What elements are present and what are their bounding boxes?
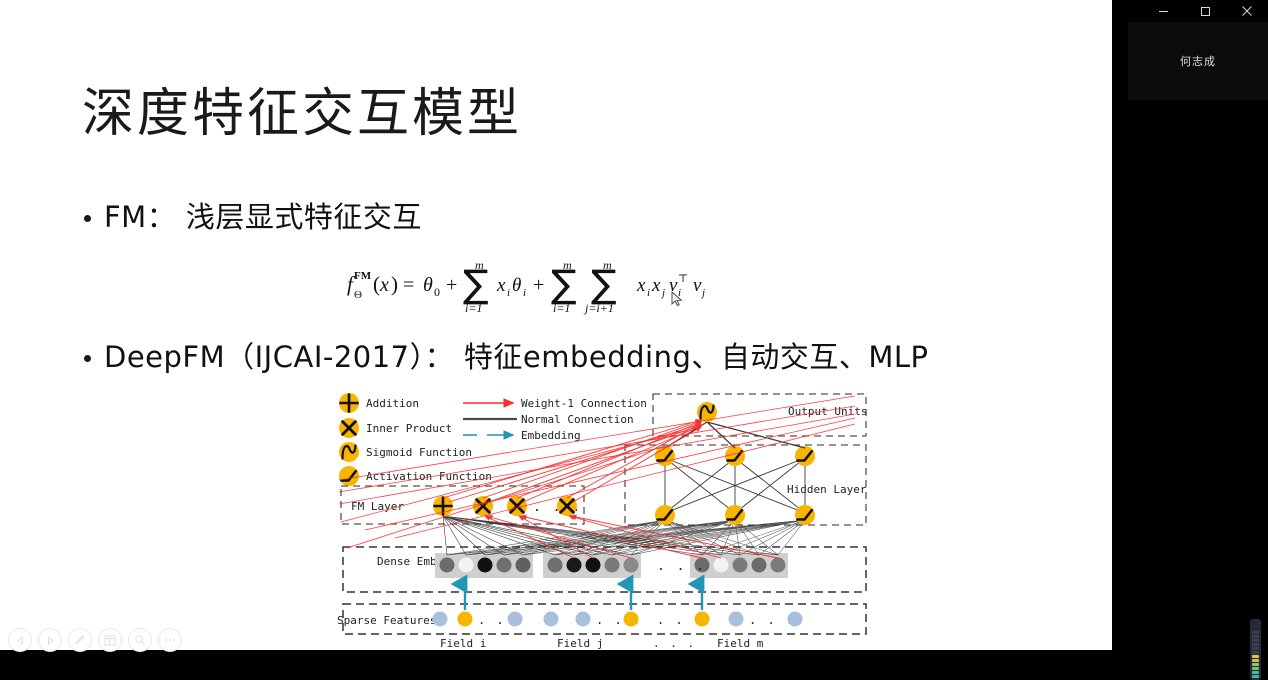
legend-icon-sigmoid	[339, 442, 359, 462]
meter-segment-inactive	[1252, 643, 1259, 646]
sparse-feature-dots: . . . . . . . . . . . .	[433, 612, 803, 628]
meter-segment	[1252, 655, 1259, 658]
presentation-slide[interactable]: 深度特征交互模型 FM： 浅层显式特征交互 f FM Θ ( x ) = θ 0	[0, 0, 1112, 650]
screen-sharing-window: 深度特征交互模型 FM： 浅层显式特征交互 f FM Θ ( x ) = θ 0	[0, 0, 1268, 680]
dense-ellipsis: . . .	[657, 559, 706, 574]
layout-view-button[interactable]	[98, 628, 122, 652]
zoom-button[interactable]	[128, 628, 152, 652]
svg-text:+: +	[446, 274, 457, 296]
participant-video-tile[interactable]: 何志成	[1128, 22, 1268, 100]
video-sidebar	[1128, 0, 1268, 680]
field-label-j: Field j	[557, 637, 603, 650]
fm-inner-product-node-1	[473, 496, 493, 516]
legend-icon-addition	[339, 393, 359, 413]
fm-inner-product-node-3	[557, 496, 577, 516]
next-slide-button[interactable]	[38, 628, 62, 652]
bullet-label-deepfm: DeepFM（IJCAI-2017）： 特征embedding、自动交互、MLP	[104, 334, 929, 376]
svg-text:Θ: Θ	[354, 289, 362, 301]
legend-icon-inner-product	[339, 418, 359, 438]
svg-text:θ: θ	[512, 275, 521, 296]
svg-text:i=1: i=1	[553, 301, 570, 315]
previous-slide-button[interactable]	[8, 628, 32, 652]
legend-label-weight1: Weight-1 Connection	[521, 397, 647, 410]
hidden-node-4	[655, 505, 675, 525]
layer-label-hidden-layer: Hidden Layer	[787, 483, 867, 496]
svg-text:v: v	[693, 275, 702, 296]
svg-text:i: i	[647, 287, 650, 299]
meter-segment-inactive	[1252, 635, 1259, 638]
svg-text:m: m	[475, 258, 484, 272]
bullet-dot-icon	[84, 215, 91, 222]
svg-text:m: m	[563, 258, 572, 272]
svg-text:FM: FM	[354, 270, 372, 282]
svg-text:): )	[391, 272, 398, 296]
page-title: 深度特征交互模型	[82, 84, 522, 144]
more-options-button[interactable]	[158, 628, 182, 652]
svg-text:(: (	[373, 272, 380, 296]
field-label-ellipsis: . . .	[653, 637, 696, 650]
fm-formula: f FM Θ ( x ) = θ 0 + ∑ m i=1 x i θ	[345, 255, 755, 315]
window-title-bar	[1140, 0, 1268, 22]
meter-segment	[1252, 667, 1259, 670]
pen-tool-button[interactable]	[68, 628, 92, 652]
legend-label-inner-product: Inner Product	[366, 422, 452, 435]
diagram-legend: Addition Inner Product Sigmoid Function …	[339, 393, 647, 486]
slide-toolbar[interactable]	[8, 628, 182, 652]
legend-label-addition: Addition	[366, 397, 419, 410]
svg-text:j=i+1: j=i+1	[583, 301, 614, 315]
bullet-item-fm: FM： 浅层显式特征交互	[84, 194, 422, 236]
svg-text:i: i	[507, 287, 510, 299]
close-button[interactable]	[1226, 0, 1268, 22]
fm-addition-node	[433, 496, 453, 516]
bullet-item-deepfm: DeepFM（IJCAI-2017）： 特征embedding、自动交互、MLP	[84, 334, 929, 376]
layer-label-output-units: Output Units	[788, 405, 867, 418]
bullet-dot-icon	[84, 355, 91, 362]
participant-name-label: 何志成	[1180, 53, 1216, 69]
svg-text:+: +	[533, 274, 544, 296]
svg-text:⊤: ⊤	[678, 273, 688, 285]
field-label-i: Field i	[440, 637, 486, 650]
hidden-node-5	[725, 505, 745, 525]
svg-text:j: j	[660, 287, 665, 299]
svg-text:x: x	[496, 275, 506, 296]
minimize-button[interactable]	[1142, 0, 1184, 22]
mouse-cursor-icon	[671, 291, 683, 307]
layer-label-sparse: Sparse Features	[337, 614, 436, 627]
svg-text:x: x	[636, 275, 646, 296]
meter-segment	[1252, 675, 1259, 678]
layer-label-fm-layer: FM Layer	[351, 500, 404, 513]
legend-label-embedding: Embedding	[521, 429, 581, 442]
hidden-node-3	[795, 446, 815, 466]
field-labels: Field i Field j . . . Field m	[440, 637, 764, 650]
bullet-label-fm: FM： 浅层显式特征交互	[104, 194, 422, 236]
meter-segment-inactive	[1252, 639, 1259, 642]
embedding-arrows	[465, 584, 702, 610]
svg-text:=: =	[403, 274, 414, 296]
svg-text:x: x	[651, 275, 661, 296]
svg-text:θ: θ	[423, 274, 433, 296]
meter-segment	[1252, 671, 1259, 674]
deepfm-architecture-diagram: Addition Inner Product Sigmoid Function …	[335, 388, 880, 650]
field-label-m: Field m	[717, 637, 764, 650]
hidden-node-2	[725, 446, 745, 466]
meter-segment-inactive	[1252, 647, 1259, 650]
svg-text:x: x	[379, 274, 389, 296]
legend-label-normal: Normal Connection	[521, 413, 634, 426]
meter-segment-inactive	[1252, 631, 1259, 634]
meter-segment-inactive	[1252, 651, 1259, 654]
meter-segment	[1252, 659, 1259, 662]
dense-embedding-groups: . . .	[435, 553, 788, 578]
maximize-button[interactable]	[1184, 0, 1226, 22]
svg-text:i=1: i=1	[465, 301, 482, 315]
svg-text:i: i	[523, 287, 526, 299]
svg-text:0: 0	[434, 285, 440, 299]
hidden-node-6	[795, 505, 815, 525]
legend-label-activation: Activation Function	[366, 470, 492, 483]
legend-label-sigmoid: Sigmoid Function	[366, 446, 472, 459]
meter-segment	[1252, 663, 1259, 666]
svg-text:m: m	[603, 258, 612, 272]
audio-level-meter	[1250, 619, 1261, 680]
legend-icon-activation	[339, 466, 359, 486]
